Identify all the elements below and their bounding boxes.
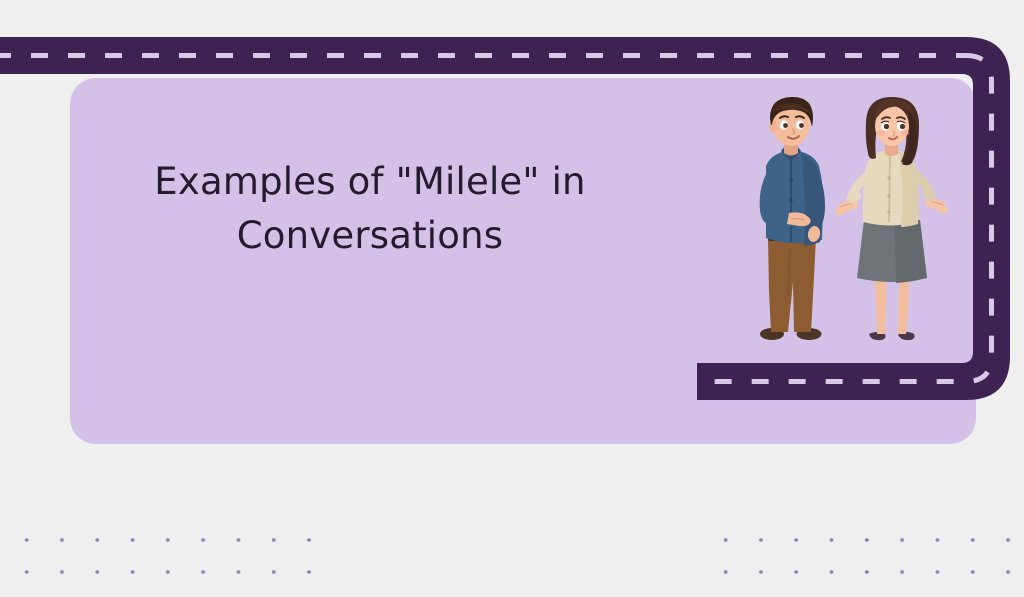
card-corner-bottom-right <box>950 418 976 444</box>
card-corner-bottom-left <box>70 418 96 444</box>
slide-canvas: Examples of "Milele" in Conversations <box>0 0 1024 597</box>
dot-grid-right <box>699 517 1024 589</box>
card-corner-top-left <box>70 78 96 104</box>
dot-grid-left <box>0 517 335 589</box>
two-people-conversation-illustration <box>748 88 958 353</box>
page-title: Examples of "Milele" in Conversations <box>70 155 670 263</box>
woman-figure <box>835 97 947 340</box>
man-figure <box>760 97 825 340</box>
